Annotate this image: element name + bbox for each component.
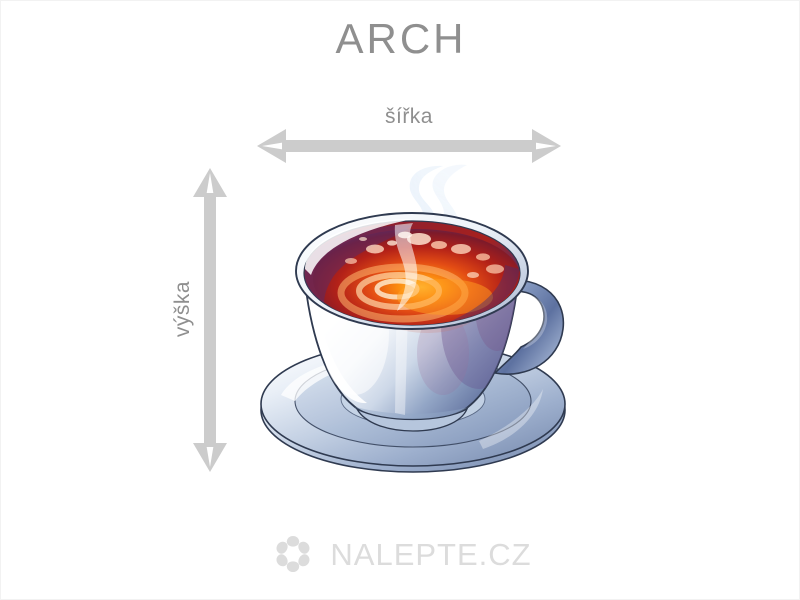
- flower-spinner-icon: [270, 531, 316, 577]
- watermark-brand-text: NALEPTE.CZ: [330, 539, 531, 570]
- product-illustration: [247, 157, 587, 487]
- cup-rim-and-tea: [296, 213, 528, 329]
- page-title: ARCH: [1, 15, 800, 63]
- height-dimension-label: výška: [171, 269, 195, 349]
- teacup-illustration: [247, 157, 587, 487]
- product-dimension-diagram: ARCH šířka výška: [0, 0, 800, 600]
- width-dimension-label: šířka: [1, 105, 800, 129]
- height-dimension-arrow: [193, 167, 227, 473]
- watermark: NALEPTE.CZ: [1, 528, 800, 580]
- vertical-double-arrow-icon: [193, 167, 227, 473]
